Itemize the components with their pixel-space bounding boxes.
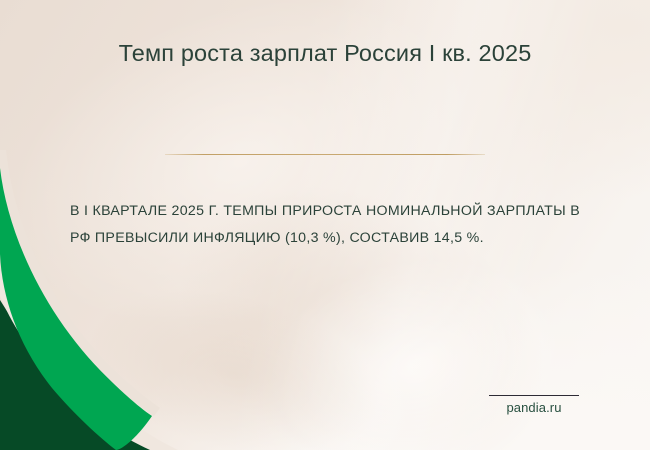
slide-title: Темп роста зарплат Россия I кв. 2025 (0, 40, 650, 67)
footer: pandia.ru (488, 395, 580, 415)
footer-rule (489, 395, 579, 396)
presentation-slide: Темп роста зарплат Россия I кв. 2025 В I… (0, 0, 650, 450)
title-divider (165, 154, 485, 155)
slide-body-text: В I КВАРТАЛЕ 2025 Г. ТЕМПЫ ПРИРОСТА НОМИ… (70, 198, 580, 252)
footer-source-label: pandia.ru (488, 400, 580, 415)
decorative-green-swoosh (0, 150, 300, 450)
